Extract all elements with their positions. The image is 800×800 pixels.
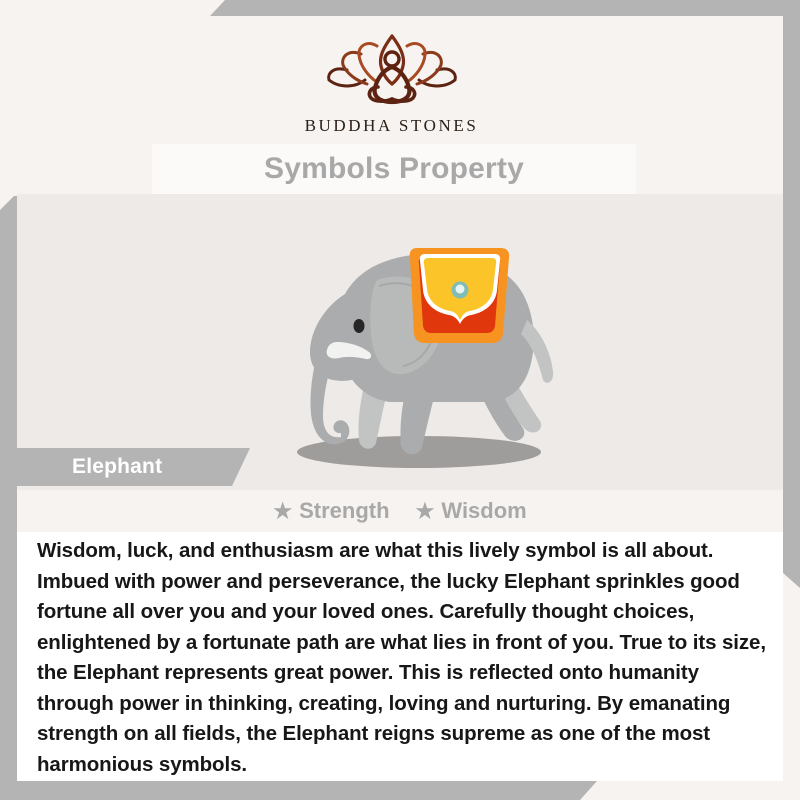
elephant-eye <box>354 319 365 333</box>
page-title-band: Symbols Property <box>152 144 636 194</box>
attribute-wisdom: ★ Wisdom <box>416 498 527 524</box>
brand-name: BUDDHA STONES <box>305 116 479 136</box>
bottom-accent-bar <box>0 781 800 800</box>
symbol-attributes: ★ Strength ★ Wisdom <box>17 490 783 532</box>
attribute-label: Wisdom <box>441 498 526 524</box>
illustration-stage <box>17 194 783 490</box>
attribute-strength: ★ Strength <box>273 498 389 524</box>
brand-header: BUDDHA STONES <box>0 16 783 144</box>
symbol-name-banner: Elephant <box>0 448 250 486</box>
left-accent-bar <box>0 196 17 786</box>
star-icon: ★ <box>273 501 292 522</box>
page-title: Symbols Property <box>264 152 524 186</box>
right-accent-bar <box>783 16 800 588</box>
elephant-illustration <box>249 224 579 484</box>
star-icon: ★ <box>416 501 435 522</box>
symbol-property-card: BUDDHA STONES Symbols Property <box>0 0 800 800</box>
lotus-meditation-icon <box>317 30 467 114</box>
attribute-label: Strength <box>299 498 389 524</box>
symbol-description-panel: Wisdom, luck, and enthusiasm are what th… <box>17 532 783 781</box>
top-accent-bar <box>0 0 800 16</box>
brand-logo: BUDDHA STONES <box>0 30 783 136</box>
symbol-description: Wisdom, luck, and enthusiasm are what th… <box>37 536 777 780</box>
symbol-name: Elephant <box>72 455 162 479</box>
